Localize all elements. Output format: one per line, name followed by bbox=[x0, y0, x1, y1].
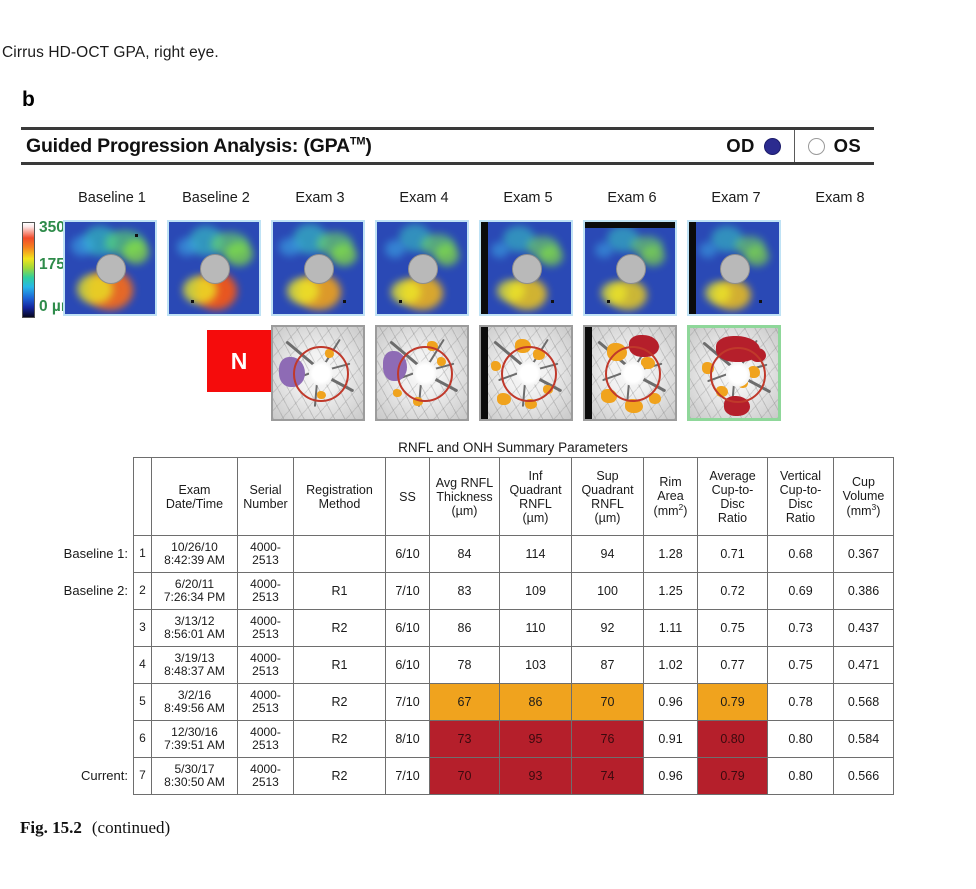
nerve-fiber-bundle bbox=[71, 236, 93, 256]
table-header: ExamDate/TimeSerialNumberRegistrationMet… bbox=[134, 458, 894, 536]
cell-exam-datetime: 10/26/108:42:39 AM bbox=[152, 536, 238, 573]
column-header-line: Serial bbox=[239, 483, 292, 497]
cell-sup: 70 bbox=[572, 684, 644, 721]
cell-avg: 83 bbox=[430, 573, 500, 610]
exam-label-1: Baseline 1 bbox=[60, 190, 164, 206]
exam-datetime-line: 8:48:37 AM bbox=[153, 665, 236, 678]
exam-datetime-line: 8:30:50 AM bbox=[153, 776, 236, 789]
cell-registration-method: R1 bbox=[294, 573, 386, 610]
cell-serial-number: 4000-2513 bbox=[238, 758, 294, 795]
exam-label-4: Exam 4 bbox=[372, 190, 476, 206]
cell-cvol: 0.471 bbox=[834, 647, 894, 684]
row-index: 2 bbox=[134, 573, 152, 610]
nerve-fiber-bundle bbox=[331, 244, 357, 266]
column-header-line: (µm) bbox=[501, 511, 570, 525]
cell-rim: 1.28 bbox=[644, 536, 698, 573]
column-header-line: Quadrant bbox=[501, 483, 570, 497]
column-header-line: Sup bbox=[573, 469, 642, 483]
cell-inf: 93 bbox=[500, 758, 572, 795]
figure-number: Fig. 15.2 bbox=[20, 818, 82, 837]
cell-avg: 84 bbox=[430, 536, 500, 573]
cell-acd: 0.79 bbox=[698, 684, 768, 721]
cell-exam-datetime: 12/30/167:39:51 AM bbox=[152, 721, 238, 758]
nerve-fiber-bundle bbox=[225, 242, 253, 266]
table-row[interactable]: 33/13/128:56:01 AM4000-2513R26/108611092… bbox=[134, 610, 894, 647]
od-label: OD bbox=[726, 135, 754, 157]
fixation-marker bbox=[135, 234, 138, 237]
column-header-line: Quadrant bbox=[573, 483, 642, 497]
cell-registration-method: R1 bbox=[294, 647, 386, 684]
cell-vcd: 0.80 bbox=[768, 758, 834, 795]
gpa-title-text: Guided Progression Analysis: (GPA bbox=[26, 135, 350, 157]
exam-label-3: Exam 3 bbox=[268, 190, 372, 206]
nerve-fiber-bundle bbox=[391, 280, 421, 304]
exam-datetime-line: 7:26:34 PM bbox=[153, 591, 236, 604]
column-header-cvol: CupVolume(mm3) bbox=[834, 458, 894, 536]
column-header-line: Cup-to- bbox=[769, 483, 832, 497]
cell-ss: 6/10 bbox=[386, 536, 430, 573]
column-header-ss: SS bbox=[386, 458, 430, 536]
cell-sup: 94 bbox=[572, 536, 644, 573]
cell-rim: 0.96 bbox=[644, 684, 698, 721]
column-header-line: Exam bbox=[153, 483, 236, 497]
column-header-rim: RimArea(mm2) bbox=[644, 458, 698, 536]
column-header-line: Average bbox=[699, 469, 766, 483]
cell-acd: 0.71 bbox=[698, 536, 768, 573]
exam-datetime-line: 7:39:51 AM bbox=[153, 739, 236, 752]
serial-number-line: 2513 bbox=[239, 776, 292, 789]
exam-datetime-line: 8:56:01 AM bbox=[153, 628, 236, 641]
column-header-line: RNFL bbox=[501, 497, 570, 511]
table-row[interactable]: 26/20/117:26:34 PM4000-2513R17/108310910… bbox=[134, 573, 894, 610]
scan-artifact-edge bbox=[585, 327, 592, 419]
rnfl-measurement-circle bbox=[397, 346, 453, 402]
od-eye-selector[interactable]: OD bbox=[713, 130, 794, 162]
cell-cvol: 0.584 bbox=[834, 721, 894, 758]
table-title: RNFL and ONH Summary Parameters bbox=[133, 440, 893, 455]
cell-vcd: 0.68 bbox=[768, 536, 834, 573]
cell-cvol: 0.367 bbox=[834, 536, 894, 573]
exam-label-8: Exam 8 bbox=[788, 190, 892, 206]
od-radio-icon[interactable] bbox=[764, 138, 781, 155]
table-body: 110/26/108:42:39 AM4000-25136/1084114941… bbox=[134, 536, 894, 795]
cell-serial-number: 4000-2513 bbox=[238, 684, 294, 721]
onh-progression-map-4[interactable] bbox=[375, 325, 469, 421]
rnfl-onh-summary-table: ExamDate/TimeSerialNumberRegistrationMet… bbox=[133, 457, 894, 795]
exam-datetime-line: 12/30/16 bbox=[153, 726, 236, 739]
fixation-marker bbox=[607, 300, 610, 303]
exam-datetime-line: 3/2/16 bbox=[153, 689, 236, 702]
column-header-line: Area bbox=[645, 489, 696, 503]
serial-number-line: 4000- bbox=[239, 615, 292, 628]
cell-vcd: 0.69 bbox=[768, 573, 834, 610]
row-side-label: Baseline 2: bbox=[30, 583, 128, 598]
column-header-line: (µm) bbox=[573, 511, 642, 525]
optic-disc-marker bbox=[408, 254, 438, 284]
fixation-marker bbox=[191, 300, 194, 303]
column-header-line: SS bbox=[387, 490, 428, 504]
cell-ss: 7/10 bbox=[386, 573, 430, 610]
exam-datetime-line: 5/30/17 bbox=[153, 763, 236, 776]
rnfl-thickness-map-row bbox=[60, 220, 890, 320]
column-header-line: Thickness bbox=[431, 490, 498, 504]
cell-ss: 6/10 bbox=[386, 647, 430, 684]
table-row[interactable]: 612/30/167:39:51 AM4000-2513R28/10739576… bbox=[134, 721, 894, 758]
scan-artifact-edge bbox=[689, 222, 696, 314]
onh-progression-map-3[interactable] bbox=[271, 325, 365, 421]
scan-artifact-edge bbox=[481, 222, 488, 314]
cell-avg: 78 bbox=[430, 647, 500, 684]
table-row[interactable]: 53/2/168:49:56 AM4000-2513R27/106786700.… bbox=[134, 684, 894, 721]
cell-rim: 0.91 bbox=[644, 721, 698, 758]
exam-label-5: Exam 5 bbox=[476, 190, 580, 206]
column-header-inf: InfQuadrantRNFL(µm) bbox=[500, 458, 572, 536]
column-header-vcd: VerticalCup-to-DiscRatio bbox=[768, 458, 834, 536]
nerve-fiber-bundle bbox=[279, 238, 301, 256]
cell-vcd: 0.73 bbox=[768, 610, 834, 647]
row-index: 3 bbox=[134, 610, 152, 647]
exam-label-7: Exam 7 bbox=[684, 190, 788, 206]
cell-exam-datetime: 3/13/128:56:01 AM bbox=[152, 610, 238, 647]
color-scale-bar bbox=[22, 222, 35, 318]
column-header-line: (mm2) bbox=[645, 503, 696, 518]
cell-inf: 86 bbox=[500, 684, 572, 721]
cell-registration-method: R2 bbox=[294, 758, 386, 795]
row-index: 4 bbox=[134, 647, 152, 684]
optic-disc-marker bbox=[304, 254, 334, 284]
cell-sup: 100 bbox=[572, 573, 644, 610]
cell-inf: 110 bbox=[500, 610, 572, 647]
serial-number-line: 4000- bbox=[239, 578, 292, 591]
figure-caption-text: (continued) bbox=[92, 818, 170, 837]
row-index: 6 bbox=[134, 721, 152, 758]
cell-inf: 114 bbox=[500, 536, 572, 573]
exam-datetime-line: 10/26/10 bbox=[153, 541, 236, 554]
nerve-fiber-bundle bbox=[601, 282, 627, 304]
serial-number-line: 4000- bbox=[239, 689, 292, 702]
cell-sup: 87 bbox=[572, 647, 644, 684]
rnfl-thickness-map-1[interactable] bbox=[63, 220, 157, 316]
column-header-date: ExamDate/Time bbox=[152, 458, 238, 536]
rnfl-measurement-circle bbox=[293, 346, 349, 402]
column-header-avg: Avg RNFLThickness(µm) bbox=[430, 458, 500, 536]
cell-exam-datetime: 3/19/138:48:37 AM bbox=[152, 647, 238, 684]
cell-vcd: 0.78 bbox=[768, 684, 834, 721]
column-header-line: Cup bbox=[835, 475, 892, 489]
table-row[interactable]: 43/19/138:48:37 AM4000-2513R16/107810387… bbox=[134, 647, 894, 684]
cell-ss: 7/10 bbox=[386, 684, 430, 721]
cell-serial-number: 4000-2513 bbox=[238, 721, 294, 758]
cell-sup: 92 bbox=[572, 610, 644, 647]
serial-number-line: 4000- bbox=[239, 726, 292, 739]
fixation-marker bbox=[759, 300, 762, 303]
table-row[interactable]: 75/30/178:30:50 AM4000-2513R27/107093740… bbox=[134, 758, 894, 795]
cell-inf: 95 bbox=[500, 721, 572, 758]
column-header-line: (µm) bbox=[431, 504, 498, 518]
cell-vcd: 0.75 bbox=[768, 647, 834, 684]
column-header-line: Number bbox=[239, 497, 292, 511]
cell-exam-datetime: 6/20/117:26:34 PM bbox=[152, 573, 238, 610]
column-header-line: Disc bbox=[699, 497, 766, 511]
figure-caption: Fig. 15.2(continued) bbox=[20, 818, 170, 838]
cell-cvol: 0.386 bbox=[834, 573, 894, 610]
optic-disc-marker bbox=[720, 254, 750, 284]
os-label: OS bbox=[834, 135, 861, 157]
cell-cvol: 0.568 bbox=[834, 684, 894, 721]
exam-column-labels: Baseline 1Baseline 2Exam 3Exam 4Exam 5Ex… bbox=[60, 190, 890, 210]
cell-exam-datetime: 3/2/168:49:56 AM bbox=[152, 684, 238, 721]
cell-registration-method: R2 bbox=[294, 684, 386, 721]
rnfl-thickness-map-7[interactable] bbox=[687, 220, 781, 316]
rnfl-measurement-circle bbox=[605, 346, 661, 402]
nerve-fiber-bundle bbox=[595, 242, 613, 258]
nerve-fiber-bundle bbox=[385, 240, 405, 258]
exam-label-2: Baseline 2 bbox=[164, 190, 268, 206]
column-header-idx bbox=[134, 458, 152, 536]
serial-number-line: 2513 bbox=[239, 554, 292, 567]
cell-cvol: 0.566 bbox=[834, 758, 894, 795]
rnfl-thickness-map-6[interactable] bbox=[583, 220, 677, 316]
column-header-reg: RegistrationMethod bbox=[294, 458, 386, 536]
serial-number-line: 2513 bbox=[239, 591, 292, 604]
column-header-ser: SerialNumber bbox=[238, 458, 294, 536]
column-header-line: Cup-to- bbox=[699, 483, 766, 497]
cell-registration-method: R2 bbox=[294, 721, 386, 758]
gpa-title-close: ) bbox=[365, 135, 371, 157]
rnfl-thickness-map-3[interactable] bbox=[271, 220, 365, 316]
column-header-line: Ratio bbox=[699, 511, 766, 525]
cell-acd: 0.72 bbox=[698, 573, 768, 610]
nerve-fiber-bundle bbox=[123, 240, 149, 264]
exam-datetime-line: 3/13/12 bbox=[153, 615, 236, 628]
progression-overlay-orange bbox=[393, 389, 402, 397]
os-eye-selector[interactable]: OS bbox=[795, 130, 874, 162]
row-side-label: Baseline 1: bbox=[30, 546, 128, 561]
cell-serial-number: 4000-2513 bbox=[238, 536, 294, 573]
cell-ss: 8/10 bbox=[386, 721, 430, 758]
cell-serial-number: 4000-2513 bbox=[238, 610, 294, 647]
nerve-fiber-bundle bbox=[491, 242, 509, 258]
nerve-fiber-bundle bbox=[705, 282, 731, 304]
nerve-fiber-bundle bbox=[699, 242, 717, 258]
optic-disc-marker bbox=[616, 254, 646, 284]
cell-acd: 0.77 bbox=[698, 647, 768, 684]
fixation-marker bbox=[399, 300, 402, 303]
column-header-line: Rim bbox=[645, 475, 696, 489]
nasal-orientation-badge: N bbox=[207, 330, 271, 392]
cell-sup: 74 bbox=[572, 758, 644, 795]
cell-ss: 7/10 bbox=[386, 758, 430, 795]
column-header-line: Vertical bbox=[769, 469, 832, 483]
cell-acd: 0.79 bbox=[698, 758, 768, 795]
cell-avg: 67 bbox=[430, 684, 500, 721]
serial-number-line: 2513 bbox=[239, 702, 292, 715]
cell-avg: 86 bbox=[430, 610, 500, 647]
cell-inf: 103 bbox=[500, 647, 572, 684]
rnfl-thickness-map-4[interactable] bbox=[375, 220, 469, 316]
rnfl-measurement-circle bbox=[501, 346, 557, 402]
scan-artifact-edge bbox=[585, 222, 675, 228]
cell-ss: 6/10 bbox=[386, 610, 430, 647]
serial-number-line: 4000- bbox=[239, 763, 292, 776]
fixation-marker bbox=[343, 300, 346, 303]
serial-number-line: 2513 bbox=[239, 628, 292, 641]
cell-exam-datetime: 5/30/178:30:50 AM bbox=[152, 758, 238, 795]
row-index: 7 bbox=[134, 758, 152, 795]
serial-number-line: 2513 bbox=[239, 739, 292, 752]
cell-serial-number: 4000-2513 bbox=[238, 647, 294, 684]
exam-datetime-line: 8:42:39 AM bbox=[153, 554, 236, 567]
progression-overlay-orange bbox=[491, 361, 501, 371]
exam-datetime-line: 8:49:56 AM bbox=[153, 702, 236, 715]
column-header-acd: AverageCup-to-DiscRatio bbox=[698, 458, 768, 536]
cell-rim: 1.25 bbox=[644, 573, 698, 610]
cell-rim: 1.11 bbox=[644, 610, 698, 647]
serial-number-line: 4000- bbox=[239, 541, 292, 554]
gpa-header-bar: Guided Progression Analysis: (GPATM) OD … bbox=[21, 127, 874, 165]
cell-cvol: 0.437 bbox=[834, 610, 894, 647]
rnfl-measurement-circle bbox=[710, 347, 766, 403]
column-header-line: Volume bbox=[835, 489, 892, 503]
cell-avg: 70 bbox=[430, 758, 500, 795]
serial-number-line: 2513 bbox=[239, 665, 292, 678]
table-row[interactable]: 110/26/108:42:39 AM4000-25136/1084114941… bbox=[134, 536, 894, 573]
scan-artifact-edge bbox=[481, 327, 488, 419]
cell-sup: 76 bbox=[572, 721, 644, 758]
nerve-fiber-bundle bbox=[177, 238, 197, 256]
column-header-line: Date/Time bbox=[153, 497, 236, 511]
cell-rim: 0.96 bbox=[644, 758, 698, 795]
optic-disc-marker bbox=[200, 254, 230, 284]
column-header-sup: SupQuadrantRNFL(µm) bbox=[572, 458, 644, 536]
column-header-line: Method bbox=[295, 497, 384, 511]
optic-disc-marker bbox=[96, 254, 126, 284]
cell-serial-number: 4000-2513 bbox=[238, 573, 294, 610]
os-radio-icon[interactable] bbox=[808, 138, 825, 155]
cell-avg: 73 bbox=[430, 721, 500, 758]
column-header-line: Disc bbox=[769, 497, 832, 511]
column-header-line: Inf bbox=[501, 469, 570, 483]
onh-progression-map-5[interactable] bbox=[479, 325, 573, 421]
panel-letter: b bbox=[22, 88, 35, 112]
cell-inf: 109 bbox=[500, 573, 572, 610]
exam-label-6: Exam 6 bbox=[580, 190, 684, 206]
row-index: 1 bbox=[134, 536, 152, 573]
intro-caption: Cirrus HD-OCT GPA, right eye. bbox=[2, 44, 219, 62]
cell-acd: 0.80 bbox=[698, 721, 768, 758]
column-header-line: Ratio bbox=[769, 511, 832, 525]
row-side-label: Current: bbox=[30, 768, 128, 783]
onh-progression-map-row bbox=[60, 325, 890, 425]
serial-number-line: 4000- bbox=[239, 652, 292, 665]
column-header-line: Registration bbox=[295, 483, 384, 497]
row-index: 5 bbox=[134, 684, 152, 721]
trademark-mark: TM bbox=[350, 135, 365, 147]
cell-registration-method bbox=[294, 536, 386, 573]
onh-progression-map-7[interactable] bbox=[687, 325, 781, 421]
optic-disc-marker bbox=[512, 254, 542, 284]
progression-overlay-orange bbox=[497, 393, 511, 405]
exam-datetime-line: 6/20/11 bbox=[153, 578, 236, 591]
cell-registration-method: R2 bbox=[294, 610, 386, 647]
cell-vcd: 0.80 bbox=[768, 721, 834, 758]
column-header-line: (mm3) bbox=[835, 503, 892, 518]
table-header-row: ExamDate/TimeSerialNumberRegistrationMet… bbox=[134, 458, 894, 536]
rnfl-thickness-map-5[interactable] bbox=[479, 220, 573, 316]
onh-progression-map-6[interactable] bbox=[583, 325, 677, 421]
nerve-fiber-bundle bbox=[497, 280, 525, 302]
column-header-line: Avg RNFL bbox=[431, 476, 498, 490]
nerve-fiber-bundle bbox=[539, 246, 563, 266]
exam-datetime-line: 3/19/13 bbox=[153, 652, 236, 665]
fixation-marker bbox=[551, 300, 554, 303]
rnfl-thickness-map-2[interactable] bbox=[167, 220, 261, 316]
gpa-title: Guided Progression Analysis: (GPATM) bbox=[21, 135, 713, 158]
nerve-fiber-bundle bbox=[435, 244, 459, 266]
cell-rim: 1.02 bbox=[644, 647, 698, 684]
column-header-line: RNFL bbox=[573, 497, 642, 511]
cell-acd: 0.75 bbox=[698, 610, 768, 647]
